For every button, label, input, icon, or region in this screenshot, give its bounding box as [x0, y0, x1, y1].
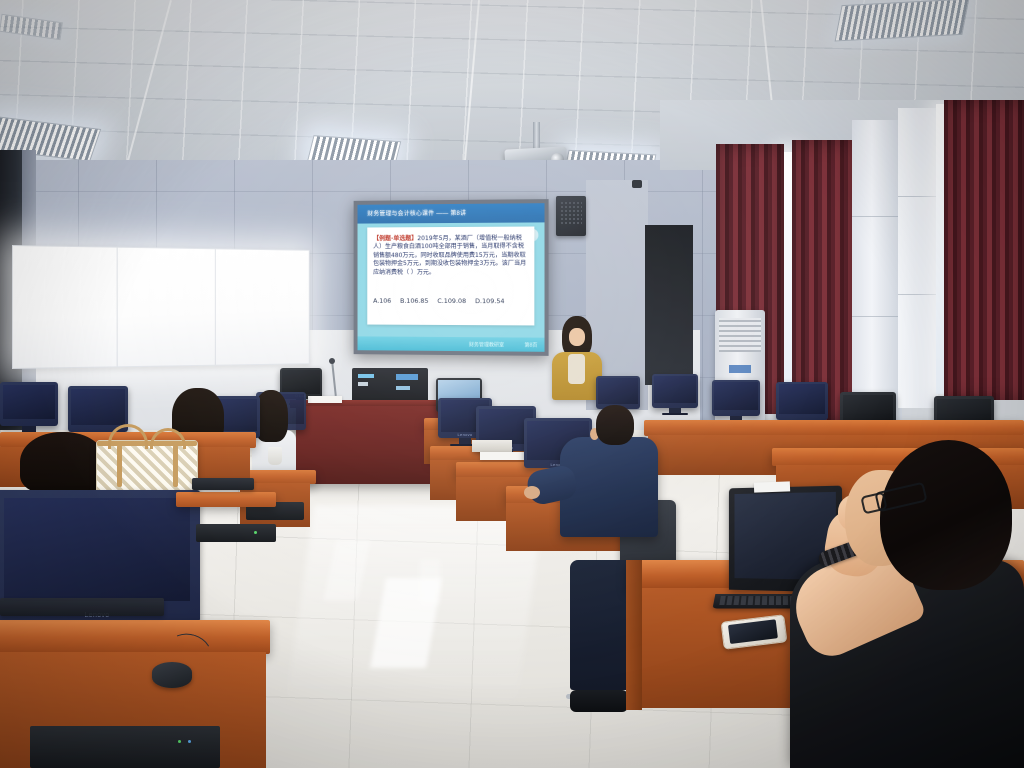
whiteboard — [12, 245, 310, 369]
av-equipment-rack — [352, 368, 428, 404]
back-monitor — [596, 376, 640, 409]
presenter-top — [568, 354, 585, 384]
monitor-brand-label: Lenovo — [458, 432, 473, 437]
podium-papers — [308, 396, 342, 403]
back-monitor — [712, 380, 760, 416]
slide-footer-left: 财务管理教研室 — [469, 341, 504, 348]
notebook — [472, 440, 512, 452]
foreground-desk-side — [626, 560, 642, 710]
desktop-pc-tower — [30, 726, 220, 768]
ac-display — [729, 365, 751, 373]
phone-screen — [728, 619, 778, 644]
window-curtain — [944, 100, 1024, 400]
projection-screen: 财务管理与会计核心课件 —— 第8讲 【例题·单选题】2019年5月，某酒厂（增… — [354, 199, 549, 356]
paper-on-laptop — [754, 481, 790, 492]
desktop-pc-tower — [196, 524, 276, 542]
presentation-slide: 财务管理与会计核心课件 —— 第8讲 【例题·单选题】2019年5月，某酒厂（增… — [358, 203, 545, 352]
classroom-photo: 财务管理与会计核心课件 —— 第8讲 【例题·单选题】2019年5月，某酒厂（增… — [0, 0, 1024, 768]
slide-header-bar: 财务管理与会计核心课件 —— 第8讲 — [358, 203, 545, 223]
drink-cup — [268, 447, 282, 465]
slide-footer-bar: 财务管理教研室 第8页 — [358, 336, 545, 351]
student-hand — [524, 486, 540, 499]
student-head — [880, 440, 1012, 590]
wall-speaker-icon — [556, 196, 586, 236]
slide-header-title: 财务管理与会计核心课件 —— 第8讲 — [367, 208, 466, 218]
microphone-icon — [329, 358, 335, 364]
wall-camera-icon — [632, 180, 642, 188]
foreground-left-desk — [0, 620, 270, 654]
right-desk-row — [644, 420, 1024, 436]
answer-option-a: A.106 — [373, 297, 391, 305]
student-shoes — [570, 690, 628, 712]
back-monitor — [776, 382, 828, 420]
ac-grill — [719, 318, 761, 352]
wall-pillar — [852, 120, 902, 420]
slide-footer-right: 第8页 — [524, 342, 537, 349]
student-hair — [20, 432, 106, 494]
wall-pillar — [898, 108, 938, 408]
question-line-1: 2019年5月，某酒厂（增值税一般纳 — [417, 235, 515, 242]
presenter-face — [569, 328, 585, 346]
ceiling-light-fixture — [835, 0, 970, 42]
answer-option-b: B.106.85 — [400, 297, 428, 305]
keyboard — [0, 598, 164, 616]
back-monitor — [652, 374, 698, 408]
answer-option-c: C.109.08 — [437, 297, 466, 305]
loose-papers — [480, 452, 524, 460]
student-monitor — [0, 382, 58, 426]
floor-light-reflection — [420, 560, 440, 604]
question-tag: 【例题·单选题】 — [373, 235, 417, 242]
window-curtain — [792, 140, 854, 420]
keyboard — [192, 478, 254, 490]
slide-question-block: 【例题·单选题】2019年5月，某酒厂（增值税一般纳税人）生产粮食白酒100吨全… — [373, 235, 528, 277]
answer-option-d: D.109.54 — [475, 297, 504, 305]
slide-answer-options: A.106 B.106.85 C.109.08 D.109.54 — [373, 297, 528, 305]
mid-left-desk — [176, 492, 276, 507]
slide-content-area: 【例题·单选题】2019年5月，某酒厂（增值税一般纳税人）生产粮食白酒100吨全… — [367, 227, 534, 326]
student-head — [596, 405, 634, 445]
